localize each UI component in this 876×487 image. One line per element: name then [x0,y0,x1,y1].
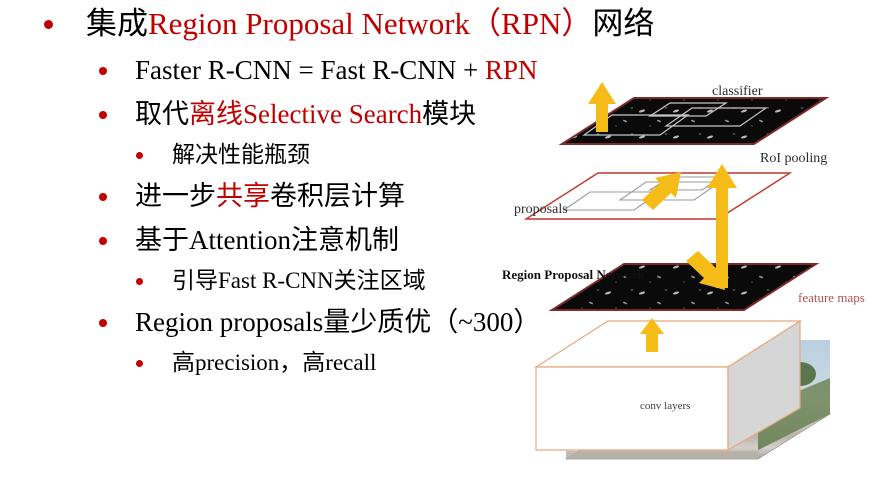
text-run: 引导Fast R-CNN关注区域 [172,268,426,293]
label-region-proposal-network: Region Proposal Network [502,267,645,283]
bullet-region-proposals-quality-text: Region proposals量少质优（~300） [135,300,540,344]
bullet-dot [136,360,143,367]
text-run: 解决性能瓶颈 [172,142,310,167]
text-run: 进一步 [135,181,216,211]
text-run: Faster R-CNN = Fast R-CNN + [135,55,485,85]
text-run: （RPN） [470,6,592,41]
label-roi-pooling: RoI pooling [760,151,827,167]
bullet-dot [44,20,53,29]
bullet-dot [136,278,143,285]
bullet-integrate-rpn: 集成Region Proposal Network（RPN）网络 [0,0,640,48]
bullet-precision-recall-text: 高precision，高recall [172,344,376,382]
label-proposals: proposals [514,202,568,218]
text-run: Region proposals量少质优（~300） [135,307,540,337]
text-run: Region Proposal Network [148,6,470,41]
bullet-dot [99,67,107,75]
bullet-dot [99,193,107,201]
conv-layers-box [536,321,800,450]
label-conv-layers: conv layers [640,400,690,412]
bullet-faster-rcnn-equation-text: Faster R-CNN = Fast R-CNN + RPN [135,48,538,92]
text-run: 共享 [216,181,270,211]
label-classifier: classifier [712,84,763,100]
text-run: 网络 [592,6,654,41]
slide-canvas: 集成Region Proposal Network（RPN）网络Faster R… [0,0,876,487]
bullet-dot [99,111,107,119]
text-run: 取代 [135,99,189,129]
bullet-dot [99,237,107,245]
text-run: 基于Attention注意机制 [135,225,399,255]
bullet-share-conv-layers-text: 进一步共享卷积层计算 [135,174,405,218]
faster-rcnn-architecture-diagram: classifier RoI pooling proposals Region … [500,78,876,487]
bullet-performance-bottleneck-text: 解决性能瓶颈 [172,136,310,174]
text-run: 高precision，高recall [172,350,376,375]
bullet-replace-selective-search-text: 取代离线Selective Search模块 [135,92,476,136]
bullet-guide-fast-rcnn-text: 引导Fast R-CNN关注区域 [172,262,426,300]
text-run: 集成 [86,6,148,41]
bullet-dot [99,319,107,327]
bullet-integrate-rpn-text: 集成Region Proposal Network（RPN）网络 [86,0,654,48]
text-run: 模块 [422,99,476,129]
text-run: 卷积层计算 [270,181,405,211]
text-run: 离线Selective Search [189,99,422,129]
bullet-attention-mechanism-text: 基于Attention注意机制 [135,218,399,262]
label-feature-maps: feature maps [798,290,865,306]
bullet-dot [136,152,143,159]
